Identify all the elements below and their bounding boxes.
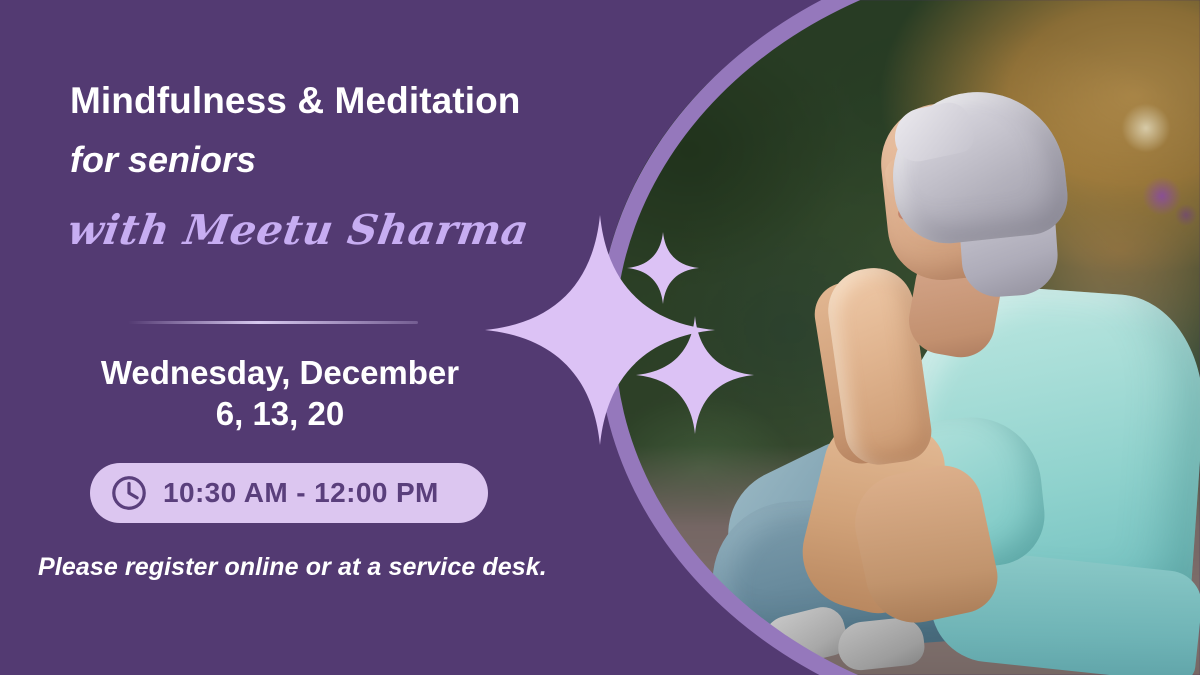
poster-canvas: Mindfulness & Meditation for seniors wit… (0, 0, 1200, 675)
event-title: Mindfulness & Meditation (70, 82, 590, 121)
event-time-pill: 10:30 AM - 12:00 PM (90, 463, 488, 523)
event-date: Wednesday, December 6, 13, 20 (0, 352, 560, 435)
event-subtitle: for seniors (70, 140, 256, 180)
registration-note: Please register online or at a service d… (38, 553, 618, 582)
sparkle-medium-icon (636, 316, 754, 434)
hair (885, 83, 1072, 248)
event-date-line-1: Wednesday, December (0, 352, 560, 393)
presenter-name: with Meetu Sharma (64, 208, 532, 253)
sparkle-small-icon (627, 232, 699, 304)
event-date-line-2: 6, 13, 20 (0, 393, 560, 434)
clock-icon (110, 474, 148, 512)
section-divider (128, 321, 418, 324)
text-content-column: Mindfulness & Meditation for seniors wit… (0, 0, 600, 675)
event-time-text: 10:30 AM - 12:00 PM (163, 477, 439, 509)
